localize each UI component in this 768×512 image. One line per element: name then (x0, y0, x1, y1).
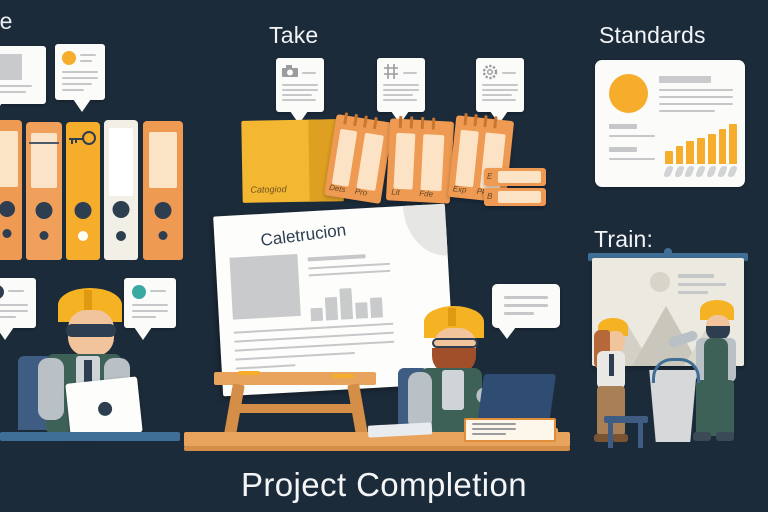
poster-bar-chart (309, 281, 383, 321)
axis-tick (695, 166, 706, 177)
binder-ring-hole (159, 231, 168, 240)
text-line (504, 296, 548, 299)
text-line (235, 352, 355, 361)
axis-tick (674, 166, 685, 177)
stool-leg (608, 422, 613, 448)
ledger-1: Dets Pro (324, 114, 393, 204)
text-line (609, 124, 637, 129)
binder-ring-hole (36, 202, 53, 219)
bar (355, 302, 368, 318)
text-line (472, 433, 506, 435)
avatar (609, 74, 648, 113)
text-line (302, 72, 316, 74)
text-line (502, 72, 516, 74)
text-line (472, 428, 516, 430)
grid-icon (383, 64, 399, 79)
standards-bar-chart (665, 122, 737, 164)
helmet-ridge (448, 308, 456, 326)
easel-crossbar (234, 404, 358, 413)
text-line (659, 96, 733, 98)
camera-icon (282, 65, 298, 78)
sunglasses (66, 324, 116, 337)
text-line (609, 147, 637, 152)
bubble-doc-thumb (0, 46, 46, 104)
text-line (0, 91, 26, 93)
tie (609, 354, 614, 376)
text-line (62, 83, 92, 85)
trousers (696, 380, 734, 436)
collar (442, 370, 464, 410)
text-line (62, 77, 98, 79)
axis-tick (717, 166, 728, 177)
illustration-canvas: re (0, 0, 768, 512)
text-line (282, 84, 318, 86)
text-line (482, 89, 518, 91)
binder-1 (0, 120, 22, 260)
tablet-button (97, 401, 112, 416)
binder-5 (143, 121, 183, 260)
text-line (403, 72, 417, 74)
binder-4 (104, 120, 138, 260)
heading-top-left-cut: re (0, 8, 12, 35)
tag-label: B (487, 192, 492, 201)
binder-ring-hole (40, 231, 49, 240)
binder-ring-hole (3, 229, 12, 238)
axis-tick (706, 166, 717, 177)
shoe (693, 432, 711, 441)
text-line (678, 291, 708, 294)
ledger-label: Lit (391, 188, 400, 197)
text-line (235, 341, 395, 352)
bubble-card-grid (377, 58, 425, 112)
heading-standards: Standards (599, 22, 706, 49)
binder-ring-hole (155, 202, 172, 219)
text-line (308, 254, 366, 261)
text-line (234, 332, 394, 343)
text-line (482, 99, 516, 101)
helmet-ridge (84, 290, 92, 310)
easel-clip (238, 371, 260, 375)
ledger-label: Pro (354, 187, 368, 198)
binder-ring-hole (113, 201, 130, 218)
text-line (504, 312, 534, 315)
heading-take: Take (269, 22, 318, 49)
text-line (62, 89, 84, 91)
bar (676, 146, 684, 164)
text-line (504, 304, 548, 307)
page-title: Project Completion (0, 466, 768, 504)
text-line (678, 274, 714, 278)
text-line (482, 94, 512, 96)
text-line (472, 423, 516, 425)
heading-train: Train: (594, 226, 653, 253)
glasses (432, 338, 478, 348)
tag-2: B (484, 188, 546, 206)
tag-1: E (484, 168, 546, 186)
text-line (80, 54, 96, 56)
binder-strap (29, 142, 59, 144)
bubble-card-camera (276, 58, 324, 112)
bar (665, 151, 673, 164)
text-line (659, 103, 733, 105)
desk (0, 432, 180, 441)
navy-dot-icon (0, 285, 4, 299)
bubble-card-gear (476, 58, 524, 112)
key-icon (66, 127, 100, 161)
stool-leg (638, 422, 643, 448)
bar (310, 308, 323, 321)
tablet (65, 376, 142, 439)
board-hook (664, 248, 672, 256)
ledger-label: Fde (419, 189, 433, 199)
poster-title: Caletrucion (259, 220, 347, 251)
text-line (308, 263, 390, 270)
text-line (282, 99, 316, 101)
bar (729, 124, 737, 164)
desk-edge (184, 446, 570, 451)
text-line (659, 110, 715, 112)
bar (686, 141, 694, 164)
binder-3 (66, 122, 100, 260)
axis-tick (684, 166, 695, 177)
book-stack (464, 418, 556, 442)
folder-label: Catogiod (250, 184, 286, 195)
ledger-label: Exp (452, 184, 467, 194)
ledger-2: Lit Fde (386, 118, 454, 203)
worker-tablet-left (16, 288, 166, 448)
binder-ring-hole (78, 231, 88, 241)
tag-label: E (487, 172, 492, 181)
axis-tick (663, 166, 674, 177)
bar (339, 288, 353, 319)
text-line (609, 158, 655, 160)
text-line (0, 316, 16, 318)
orange-dot-icon (62, 51, 76, 65)
binder-label (149, 132, 178, 188)
bucket-handle (652, 358, 700, 383)
standards-card (595, 60, 745, 187)
text-line (309, 270, 391, 277)
binder-label (109, 128, 134, 195)
poster-image-block (229, 254, 300, 320)
standards-axis-ticks (665, 166, 737, 178)
bar (325, 296, 338, 320)
text-line (659, 89, 733, 91)
text-line (282, 94, 312, 96)
binder-ring-hole (75, 202, 92, 219)
text-line (383, 99, 417, 101)
binder-ring-hole (116, 231, 126, 241)
bubble-tail (0, 103, 2, 116)
binder-ring-hole (0, 201, 15, 217)
shoe (716, 432, 734, 441)
text-line (482, 84, 518, 86)
text-line (0, 85, 32, 87)
easel-clip (332, 374, 354, 378)
text-line (80, 60, 92, 62)
text-line (383, 89, 419, 91)
bubble-plain (492, 284, 560, 328)
sun-icon (650, 272, 670, 292)
thumb-block (0, 54, 22, 80)
text-line (609, 135, 655, 137)
binder-2 (26, 122, 62, 260)
bar (708, 134, 716, 164)
bubble-tail (0, 327, 14, 340)
text-line (62, 71, 98, 73)
ledger-label: Dets (329, 183, 347, 194)
text-line (236, 364, 296, 369)
binder-label (0, 131, 18, 187)
bar (370, 298, 383, 318)
bar (719, 129, 727, 164)
text-line (282, 89, 318, 91)
shoe (612, 434, 628, 442)
page-curl (403, 204, 448, 258)
text-line (678, 283, 726, 286)
bubble-doc-orange (55, 44, 105, 100)
bubble-tail (498, 327, 516, 339)
bar (697, 138, 705, 164)
text-line (234, 323, 394, 334)
gear-icon (482, 64, 498, 80)
text-line (383, 94, 413, 96)
axis-tick (727, 166, 738, 177)
title-line (659, 76, 711, 83)
text-line (383, 84, 419, 86)
bubble-tail (73, 99, 91, 112)
